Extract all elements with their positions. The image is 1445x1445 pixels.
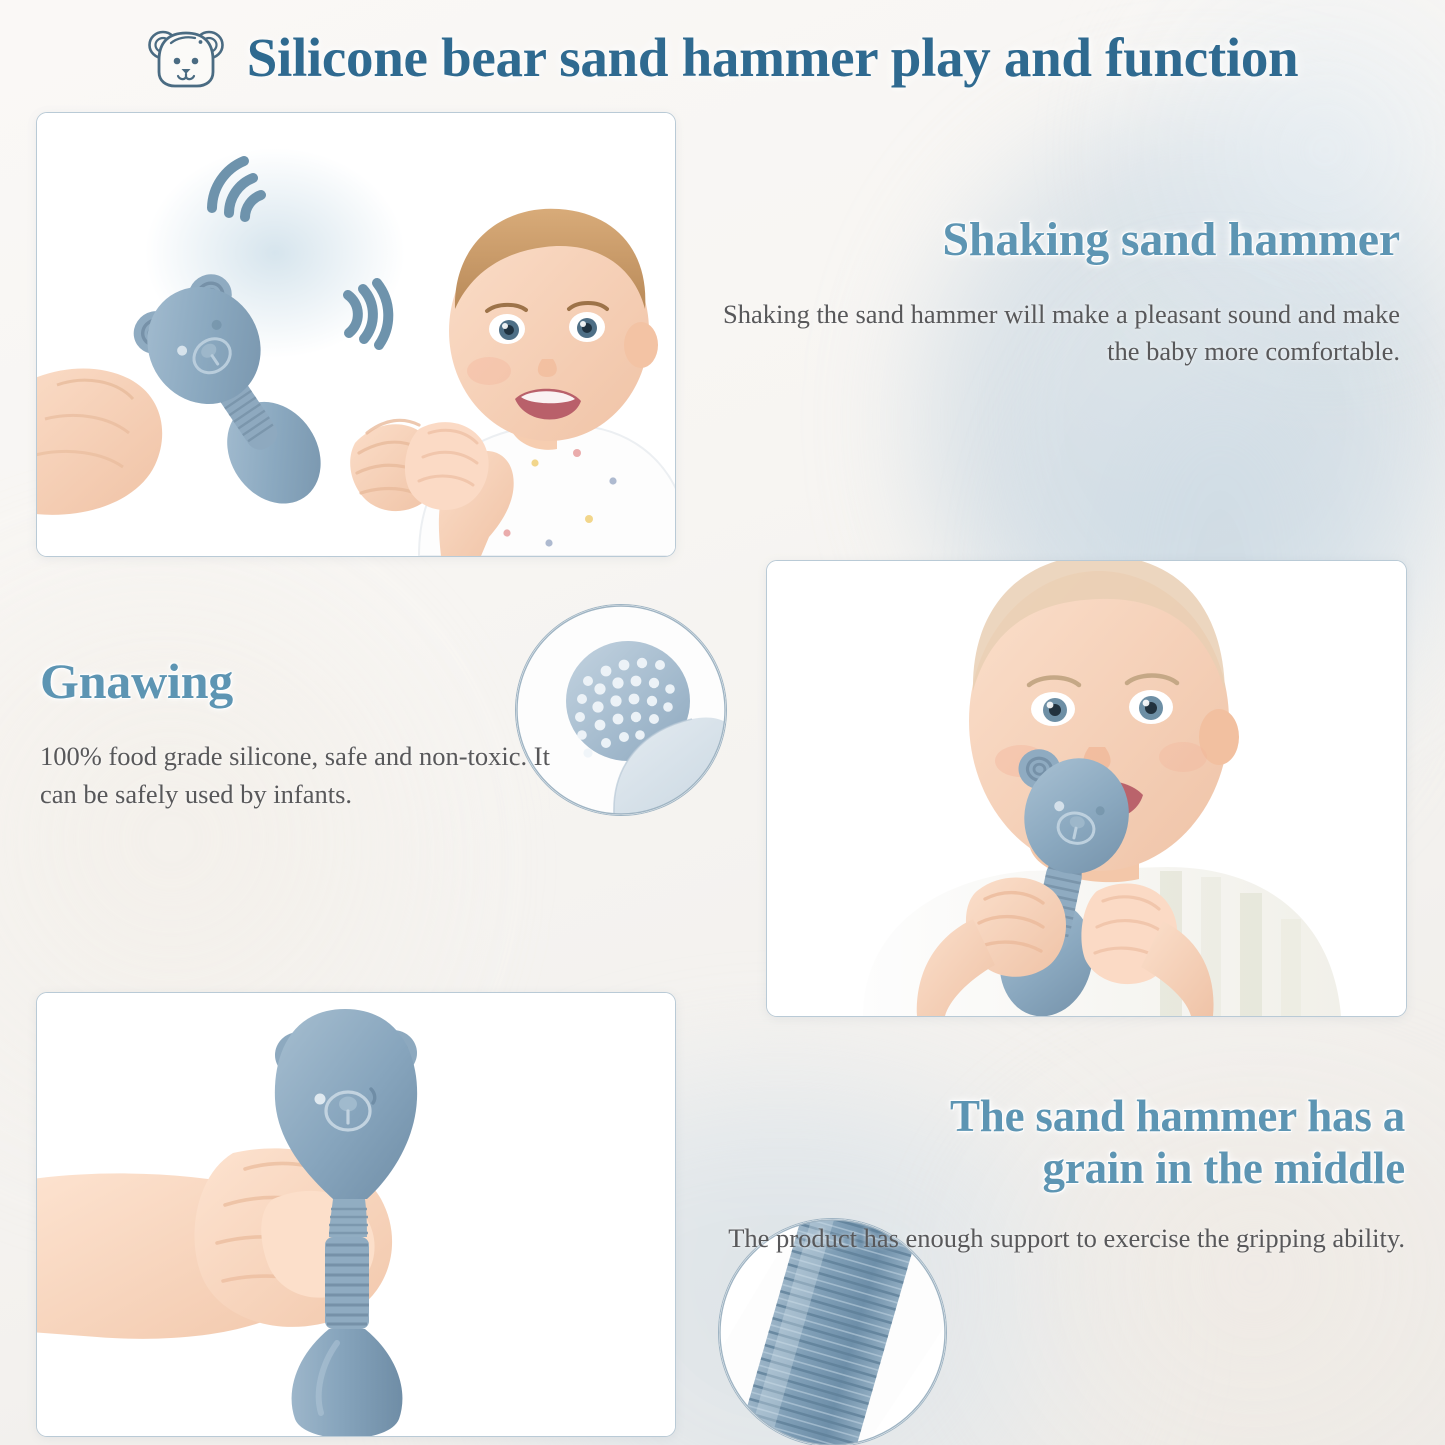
photo-grip-scene	[37, 993, 675, 1436]
page-title: Silicone bear sand hammer play and funct…	[247, 26, 1299, 89]
section-body-shaking: Shaking the sand hammer will make a plea…	[700, 296, 1400, 371]
section-heading-gnawing: Gnawing	[40, 652, 560, 710]
section-heading-grip: The sand hammer has a grain in the middl…	[690, 1090, 1405, 1194]
photo-card-gnawing	[766, 560, 1407, 1017]
page-header: Silicone bear sand hammer play and funct…	[0, 14, 1445, 100]
section-heading-grip-line1: The sand hammer has a	[950, 1091, 1405, 1141]
section-body-grip: The product has enough support to exerci…	[690, 1220, 1405, 1258]
section-grip: The sand hammer has a grain in the middl…	[690, 1090, 1405, 1258]
photo-card-shaking	[36, 112, 676, 557]
infographic-poster: Silicone bear sand hammer play and funct…	[0, 0, 1445, 1445]
section-shaking: Shaking sand hammer Shaking the sand ham…	[700, 212, 1400, 371]
section-heading-grip-line2: grain in the middle	[1043, 1143, 1405, 1193]
photo-card-grip	[36, 992, 676, 1437]
photo-gnawing-scene	[767, 561, 1406, 1016]
section-gnawing: Gnawing 100% food grade silicone, safe a…	[40, 652, 560, 813]
photo-shaking-scene	[37, 113, 675, 556]
bear-face-icon	[147, 21, 225, 93]
section-body-gnawing: 100% food grade silicone, safe and non-t…	[40, 738, 560, 813]
section-heading-shaking: Shaking sand hammer	[700, 212, 1400, 268]
